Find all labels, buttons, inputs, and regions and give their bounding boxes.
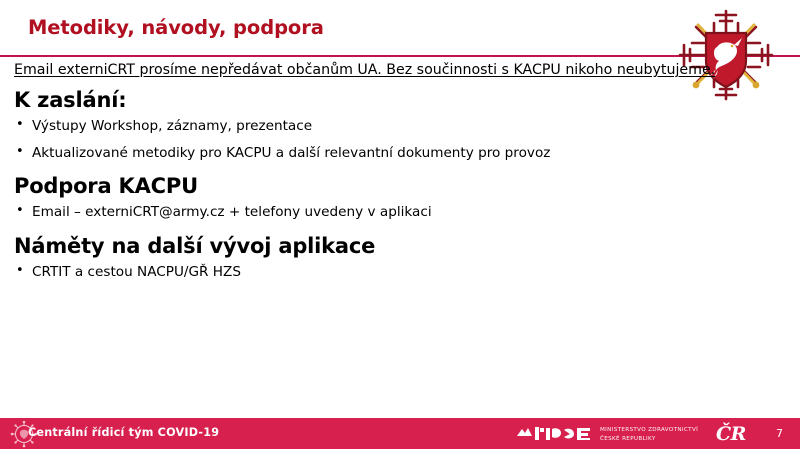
list-item: Výstupy Workshop, záznamy, prezentace [14, 118, 786, 136]
slide-canvas: Metodiky, návody, podpora [0, 0, 800, 449]
list-item: Email – externiCRT@army.cz + telefony uv… [14, 204, 786, 222]
slide-body: Email externiCRT prosíme nepředávat obča… [14, 60, 786, 291]
page-title: Metodiky, návody, podpora [28, 16, 324, 39]
lead-statement: Email externiCRT prosíme nepředávat obča… [14, 60, 786, 80]
section-heading-namety: Náměty na další vývoj aplikace [14, 234, 786, 258]
section-heading-podpora-kacpu: Podpora KACPU [14, 174, 786, 198]
cr-logo: ČR [716, 423, 746, 445]
footer-team-label: Centrální řídicí tým COVID-19 [28, 426, 219, 439]
ministry-name-line1: MINISTERSTVO ZDRAVOTNICTVÍ [600, 426, 698, 435]
ministry-health-mark-icon [516, 425, 592, 442]
section-heading-k-zaslani: K zaslání: [14, 88, 786, 112]
ministry-name: MINISTERSTVO ZDRAVOTNICTVÍ ČESKÉ REPUBLI… [600, 426, 698, 443]
list-item: CRTIT a cestou NACPU/GŘ HZS [14, 264, 786, 282]
list-item: Aktualizované metodiky pro KACPU a další… [14, 145, 786, 163]
page-number: 7 [776, 427, 783, 440]
slide-footer: Centrální řídicí tým COVID-19 MINISTERST… [0, 418, 800, 449]
ministry-name-line2: ČESKÉ REPUBLIKY [600, 435, 698, 444]
